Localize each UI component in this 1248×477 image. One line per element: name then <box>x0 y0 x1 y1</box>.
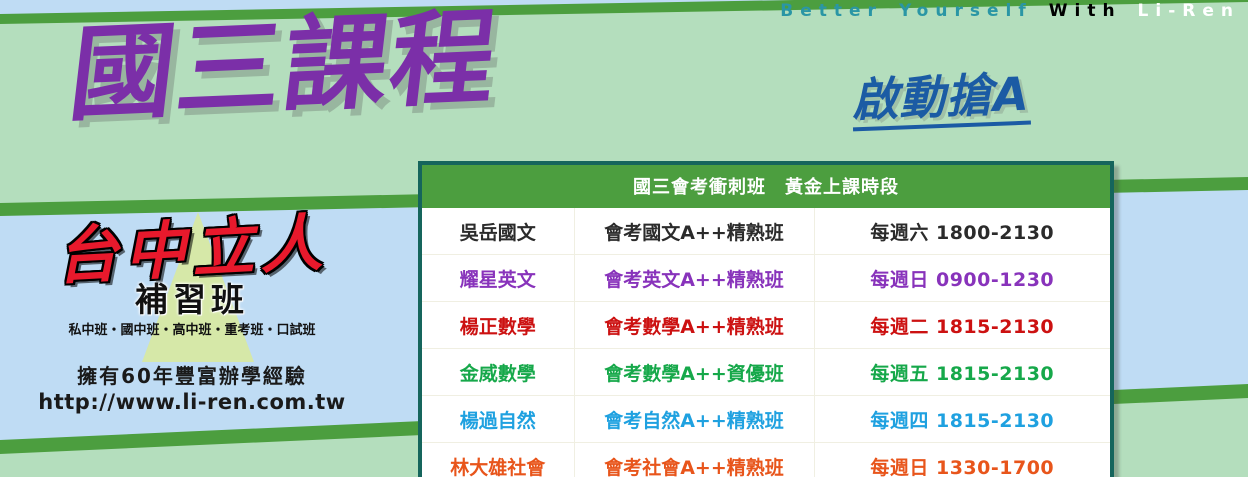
table-row: 楊過自然會考自然A++精熟班每週四 1815-2130 <box>422 396 1110 443</box>
tagline: BetterYourselfWithLi-Ren <box>780 1 1240 21</box>
schedule-header-title: 國三會考衝刺班 黃金上課時段 <box>422 165 1110 208</box>
cell-teacher: 林大雄社會 <box>422 443 574 477</box>
logo-class-list: 私中班・國中班・高中班・重考班・口試班 <box>22 319 362 338</box>
tagline-word-liren: Li-Ren <box>1138 1 1240 21</box>
table-row: 楊正數學會考數學A++精熟班每週二 1815-2130 <box>422 302 1110 349</box>
cell-teacher: 耀星英文 <box>422 255 574 302</box>
logo-type: 補習班 <box>22 283 362 316</box>
logo-website-url[interactable]: http://www.li-ren.com.tw <box>22 390 362 414</box>
cell-teacher: 楊過自然 <box>422 396 574 443</box>
logo-name: 台中立人 <box>21 209 364 290</box>
cell-time: 每週日 1330-1700 <box>814 443 1110 477</box>
cell-teacher: 楊正數學 <box>422 302 574 349</box>
table-row: 耀星英文會考英文A++精熟班每週日 0900-1230 <box>422 255 1110 302</box>
cell-course: 會考數學A++精熟班 <box>574 302 814 349</box>
cell-course: 會考社會A++精熟班 <box>574 443 814 477</box>
cell-course: 會考自然A++精熟班 <box>574 396 814 443</box>
cell-course: 會考英文A++精熟班 <box>574 255 814 302</box>
promo-banner: BetterYourselfWithLi-Ren 國三課程 啟動搶A 台中立人 … <box>0 0 1248 477</box>
cell-teacher: 金威數學 <box>422 349 574 396</box>
schedule-table: 國三會考衝刺班 黃金上課時段 吳岳國文會考國文A++精熟班每週六 1800-21… <box>422 165 1110 477</box>
cell-course: 會考數學A++資優班 <box>574 349 814 396</box>
table-row: 林大雄社會會考社會A++精熟班每週日 1330-1700 <box>422 443 1110 477</box>
brand-logo: 台中立人 補習班 私中班・國中班・高中班・重考班・口試班 擁有60年豐富辦學經驗… <box>22 218 362 414</box>
cell-time: 每週六 1800-2130 <box>814 208 1110 255</box>
cell-time: 每週日 0900-1230 <box>814 255 1110 302</box>
cell-time: 每週四 1815-2130 <box>814 396 1110 443</box>
cell-teacher: 吳岳國文 <box>422 208 574 255</box>
table-row: 吳岳國文會考國文A++精熟班每週六 1800-2130 <box>422 208 1110 255</box>
logo-experience: 擁有60年豐富辦學經驗 <box>22 360 362 389</box>
page-title: 國三課程 <box>65 5 504 127</box>
schedule-panel: 國三會考衝刺班 黃金上課時段 吳岳國文會考國文A++精熟班每週六 1800-21… <box>418 161 1114 477</box>
cell-time: 每週二 1815-2130 <box>814 302 1110 349</box>
tagline-word-yourself: Yourself <box>899 1 1033 21</box>
tagline-word-better: Better <box>780 1 883 21</box>
tagline-word-with: With <box>1049 1 1122 21</box>
cell-course: 會考國文A++精熟班 <box>574 208 814 255</box>
table-header-row: 國三會考衝刺班 黃金上課時段 <box>422 165 1110 208</box>
page-subtitle: 啟動搶A <box>851 71 1031 132</box>
cell-time: 每週五 1815-2130 <box>814 349 1110 396</box>
schedule-table-body: 吳岳國文會考國文A++精熟班每週六 1800-2130耀星英文會考英文A++精熟… <box>422 208 1110 477</box>
table-row: 金威數學會考數學A++資優班每週五 1815-2130 <box>422 349 1110 396</box>
